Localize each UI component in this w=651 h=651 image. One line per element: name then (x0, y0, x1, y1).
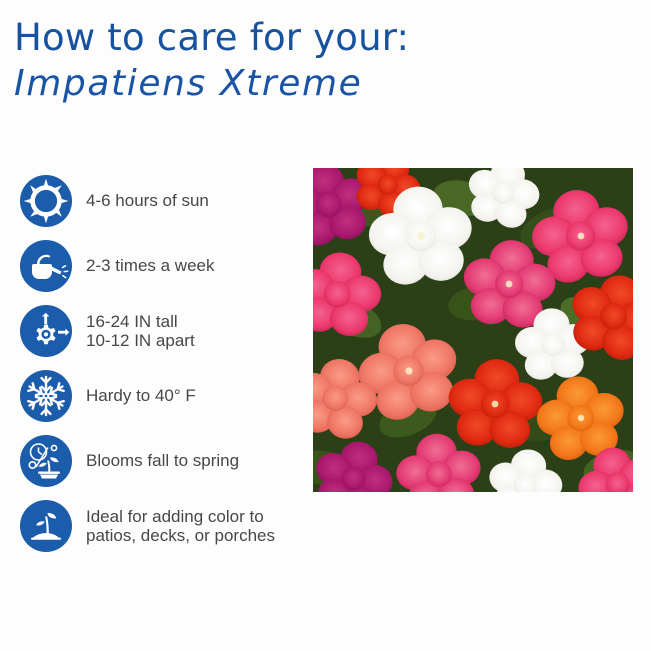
page-title: How to care for your: Impatiens Xtreme (14, 16, 634, 106)
snowflake-icon (20, 370, 72, 422)
bloom-season-icon (20, 435, 72, 487)
sun-icon (20, 175, 72, 227)
care-row-hardiness: Hardy to 40° F (20, 363, 310, 428)
plant-photo (313, 168, 633, 492)
care-label-watering: 2-3 times a week (86, 256, 215, 276)
title-line-1: How to care for your: (14, 16, 634, 60)
watering-can-icon (20, 240, 72, 292)
care-label-bloom-season: Blooms fall to spring (86, 451, 239, 471)
care-label-sun: 4-6 hours of sun (86, 191, 209, 211)
care-row-ideal-use: Ideal for adding color to patios, decks,… (20, 493, 310, 558)
plant-spacing-icon (20, 305, 72, 357)
seedling-icon (20, 500, 72, 552)
plant-care-card: How to care for your: Impatiens Xtreme (0, 0, 651, 651)
care-row-spacing: 16-24 IN tall 10-12 IN apart (20, 298, 310, 363)
care-label-spacing: 16-24 IN tall 10-12 IN apart (86, 312, 195, 350)
care-row-watering: 2-3 times a week (20, 233, 310, 298)
care-instruction-list: 4-6 hours of sun 2-3 times a week (20, 168, 310, 558)
title-line-2-plant-name: Impatiens Xtreme (14, 62, 634, 106)
care-row-sun: 4-6 hours of sun (20, 168, 310, 233)
care-label-ideal-use: Ideal for adding color to patios, decks,… (86, 507, 275, 545)
care-row-bloom-season: Blooms fall to spring (20, 428, 310, 493)
care-label-hardiness: Hardy to 40° F (86, 386, 196, 406)
